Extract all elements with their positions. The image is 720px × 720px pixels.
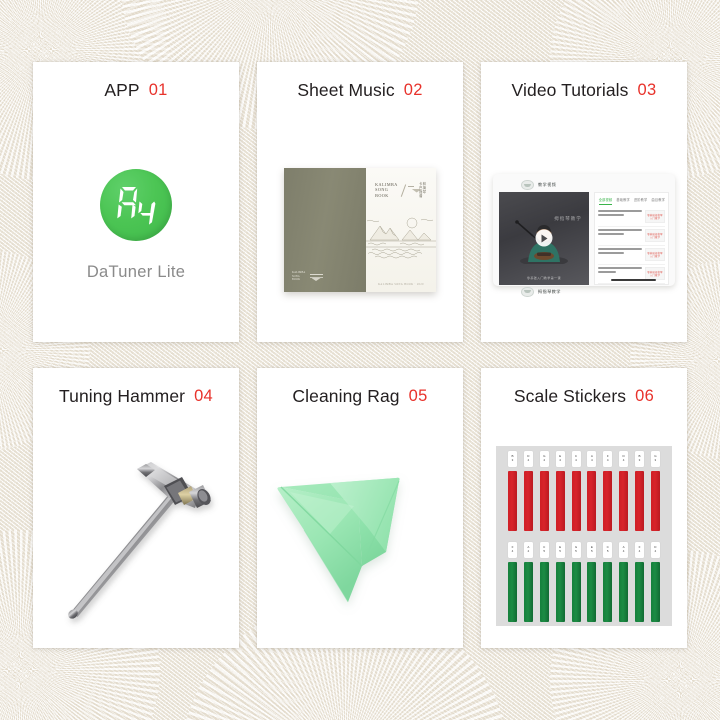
- product-card-app[interactable]: APP 01: [33, 62, 239, 342]
- sticker-bar-row-green: [506, 562, 662, 622]
- tuning-hammer-image: [51, 436, 221, 636]
- note-label: C5: [603, 542, 612, 558]
- sticker-strip: [587, 562, 596, 622]
- note-label-text: 4: [591, 459, 593, 463]
- note-label: E5: [587, 542, 596, 558]
- video-main-area: 拇指琴教学 零基础入门教学第一课 全部视频 基础教学 进阶教学 曲目教学: [499, 190, 669, 287]
- note-label-text: 4: [543, 459, 545, 463]
- note-label-text: 5: [607, 550, 609, 554]
- playlist-item-title: [598, 267, 642, 275]
- book-title-line3: BOOK: [375, 193, 398, 198]
- sticker-bar-row-red: [506, 471, 662, 531]
- app-name-label: DaTuner Lite: [87, 263, 185, 282]
- card-header: Sheet Music 02: [257, 62, 463, 118]
- card-header: Video Tutorials 03: [481, 62, 687, 118]
- video-watermark: 拇指琴教学: [554, 216, 582, 222]
- playlist-tab-3[interactable]: 曲目教学: [651, 197, 665, 205]
- book-cover-title: KALIMBA SONG BOOK: [375, 182, 398, 198]
- playlist-item-thumbnail: 零基础拇指琴入门教学: [645, 229, 665, 242]
- sticker-strip: [572, 562, 581, 622]
- brand-logo-icon: [521, 287, 534, 297]
- note-label-text: 4: [607, 459, 609, 463]
- video-header-brand: 教学视频: [538, 182, 556, 188]
- playlist-tabs: 全部视频 基础教学 进阶教学 曲目教学: [598, 196, 665, 208]
- book-spine-panel: KALIMBA SONG BOOK: [284, 168, 366, 292]
- card-title: Sheet Music: [297, 80, 394, 101]
- note-label: D4: [524, 451, 533, 467]
- card-header: APP 01: [33, 62, 239, 118]
- sticker-strip: [572, 471, 581, 531]
- note-label-text: 3: [655, 459, 657, 463]
- sticker-strip: [635, 471, 644, 531]
- card-number: 06: [635, 387, 654, 406]
- mountain-landscape-illustration: [366, 214, 436, 262]
- note-label-text: 3: [512, 459, 514, 463]
- sticker-strip: [587, 471, 596, 531]
- note-label: A4: [524, 542, 533, 558]
- note-label: F4: [603, 451, 612, 467]
- note-label: F4: [635, 542, 644, 558]
- card-title: Tuning Hammer: [59, 386, 185, 407]
- note-label: B3: [635, 451, 644, 467]
- sticker-strip: [524, 562, 533, 622]
- sticker-strip: [635, 562, 644, 622]
- video-caption: 零基础入门教学第一课: [499, 276, 589, 280]
- card-body: 教学视频: [481, 118, 687, 342]
- sticker-group-green: F4A4C5E5G5E5C5A4F4D4: [506, 542, 662, 622]
- sticker-strip: [556, 471, 565, 531]
- scale-stickers-panel: B3D4G4E4C4A4F4D4B3G3 F4A4C5E5G5E5C5A4F4D…: [496, 446, 672, 626]
- note-label: G5: [572, 542, 581, 558]
- note-label-text: 4: [623, 459, 625, 463]
- note-label: E5: [556, 542, 565, 558]
- sticker-strip: [619, 471, 628, 531]
- card-title: APP: [104, 80, 139, 101]
- app-showcase: DaTuner Lite: [87, 169, 185, 282]
- book-emblem-icon: [408, 186, 414, 195]
- card-body: B3D4G4E4C4A4F4D4B3G3 F4A4C5E5G5E5C5A4F4D…: [481, 424, 687, 648]
- datuner-app-icon: [100, 169, 172, 241]
- note-label: D4: [619, 451, 628, 467]
- card-title: Cleaning Rag: [292, 386, 399, 407]
- playlist-thumb-text: 零基础拇指琴入门教学: [646, 252, 664, 258]
- card-number: 04: [194, 387, 213, 406]
- note-label-text: 5: [559, 550, 561, 554]
- video-app-header: 教学视频: [499, 180, 669, 190]
- note-label: C5: [540, 542, 549, 558]
- playlist-thumb-text: 零基础拇指琴入门教学: [646, 271, 664, 277]
- note-label-text: 3: [639, 459, 641, 463]
- tuning-hammer-stage: [51, 436, 221, 636]
- sticker-strip: [603, 471, 612, 531]
- card-number: 05: [409, 387, 428, 406]
- card-number: 03: [638, 81, 657, 100]
- book-cover-footer: KALIMBA SONG BOOK · 2020: [366, 283, 436, 286]
- book-cover-header: KALIMBA SONG BOOK 卡林巴拇指琴谱: [375, 182, 428, 198]
- playlist-thumb-text: 零基础拇指琴入门教学: [646, 214, 664, 220]
- playlist-item[interactable]: 零基础拇指琴入门教学: [598, 208, 665, 227]
- sticker-strip: [619, 562, 628, 622]
- note-label-text: 4: [528, 459, 530, 463]
- card-header: Tuning Hammer 04: [33, 368, 239, 424]
- card-number: 01: [149, 81, 168, 100]
- sticker-strip: [540, 471, 549, 531]
- card-body: DaTuner Lite: [33, 118, 239, 342]
- card-header: Scale Stickers 06: [481, 368, 687, 424]
- sticker-strip: [524, 471, 533, 531]
- video-player[interactable]: 拇指琴教学 零基础入门教学第一课: [499, 192, 589, 285]
- sticker-strip: [540, 562, 549, 622]
- card-title: Video Tutorials: [512, 80, 629, 101]
- sticker-strip: [556, 562, 565, 622]
- sticker-strip: [603, 562, 612, 622]
- card-title: Scale Stickers: [514, 386, 626, 407]
- video-playlist[interactable]: 全部视频 基础教学 进阶教学 曲目教学 零基础拇指琴入门教学: [594, 192, 669, 285]
- note-label: D4: [651, 542, 660, 558]
- playlist-item-title: [598, 210, 642, 218]
- brand-logo-icon: [521, 180, 534, 190]
- kalimba-song-book: KALIMBA SONG BOOK KALIMBA SONG: [284, 168, 436, 292]
- seven-segment-a4-glyph: [100, 169, 172, 241]
- video-tutorial-interface[interactable]: 教学视频: [493, 174, 675, 286]
- playlist-item-thumbnail: 零基础拇指琴入门教学: [645, 267, 665, 280]
- video-footer-brand: 拇指琴教学: [538, 289, 561, 295]
- note-label: A4: [587, 451, 596, 467]
- playlist-item-title: [598, 248, 642, 256]
- book-title-line3: BOOK: [292, 278, 306, 281]
- note-label-text: 5: [575, 550, 577, 554]
- product-card-cleaning-rag[interactable]: Cleaning Rag 05: [257, 368, 463, 648]
- play-button[interactable]: [535, 230, 552, 247]
- note-label: F4: [508, 542, 517, 558]
- playlist-item-thumbnail: 零基础拇指琴入门教学: [645, 210, 665, 223]
- note-label-text: 4: [512, 550, 514, 554]
- book-cover-panel: KALIMBA SONG BOOK 卡林巴拇指琴谱: [366, 168, 436, 292]
- sticker-strip: [508, 562, 517, 622]
- playlist-tab-2[interactable]: 进阶教学: [634, 197, 648, 205]
- card-header: Cleaning Rag 05: [257, 368, 463, 424]
- book-spine-logo: KALIMBA SONG BOOK: [292, 271, 323, 281]
- book-cover-subtitle: 卡林巴拇指琴谱: [419, 182, 428, 198]
- card-body: KALIMBA SONG BOOK KALIMBA SONG: [257, 118, 463, 342]
- cleaning-rag-image: [270, 456, 450, 616]
- sticker-strip: [651, 562, 660, 622]
- product-infographic-page: APP 01: [0, 0, 720, 720]
- video-app-footer: 拇指琴教学: [499, 287, 669, 297]
- product-card-sheet-music[interactable]: Sheet Music 02 KALIMBA SONG BOOK: [257, 62, 463, 342]
- note-label: B3: [508, 451, 517, 467]
- product-card-video-tutorials[interactable]: Video Tutorials 03 教学视频: [481, 62, 687, 342]
- note-label-text: 4: [623, 550, 625, 554]
- note-label: E4: [556, 451, 565, 467]
- note-label: A4: [619, 542, 628, 558]
- product-card-grid: APP 01: [33, 62, 687, 648]
- note-label-text: 4: [639, 550, 641, 554]
- playlist-item-title: [598, 229, 642, 237]
- book-emblem-icon: [310, 274, 323, 281]
- product-card-tuning-hammer[interactable]: Tuning Hammer 04: [33, 368, 239, 648]
- sticker-strip: [651, 471, 660, 531]
- card-body: [257, 424, 463, 648]
- playlist-tab-1[interactable]: 基础教学: [616, 197, 630, 205]
- playlist-thumb-text: 零基础拇指琴入门教学: [646, 233, 664, 239]
- note-label: G3: [651, 451, 660, 467]
- note-label-text: 4: [528, 550, 530, 554]
- note-label: G4: [540, 451, 549, 467]
- card-number: 02: [404, 81, 423, 100]
- note-label-text: 4: [559, 459, 561, 463]
- playlist-tab-0[interactable]: 全部视频: [599, 197, 613, 205]
- cleaning-rag-stage: [270, 456, 450, 616]
- note-label-text: 5: [591, 550, 593, 554]
- note-label-text: 4: [575, 459, 577, 463]
- sticker-group-red: B3D4G4E4C4A4F4D4B3G3: [506, 451, 662, 531]
- playlist-item-thumbnail: 零基础拇指琴入门教学: [645, 248, 665, 261]
- product-card-scale-stickers[interactable]: Scale Stickers 06 B3D4G4E4C4A4F4D4B3G3 F…: [481, 368, 687, 648]
- playlist-item[interactable]: 零基础拇指琴入门教学: [598, 246, 665, 265]
- card-body: [33, 424, 239, 648]
- note-label-text: 4: [655, 550, 657, 554]
- note-label-row-green: F4A4C5E5G5E5C5A4F4D4: [506, 542, 662, 558]
- note-label-row-red: B3D4G4E4C4A4F4D4B3G3: [506, 451, 662, 467]
- playlist-scrollbar[interactable]: [611, 279, 656, 281]
- playlist-item[interactable]: 零基础拇指琴入门教学: [598, 227, 665, 246]
- note-label-text: 5: [543, 550, 545, 554]
- note-label: C4: [572, 451, 581, 467]
- sticker-strip: [508, 471, 517, 531]
- divider: [401, 184, 406, 196]
- book-spine-title: KALIMBA SONG BOOK: [292, 271, 306, 281]
